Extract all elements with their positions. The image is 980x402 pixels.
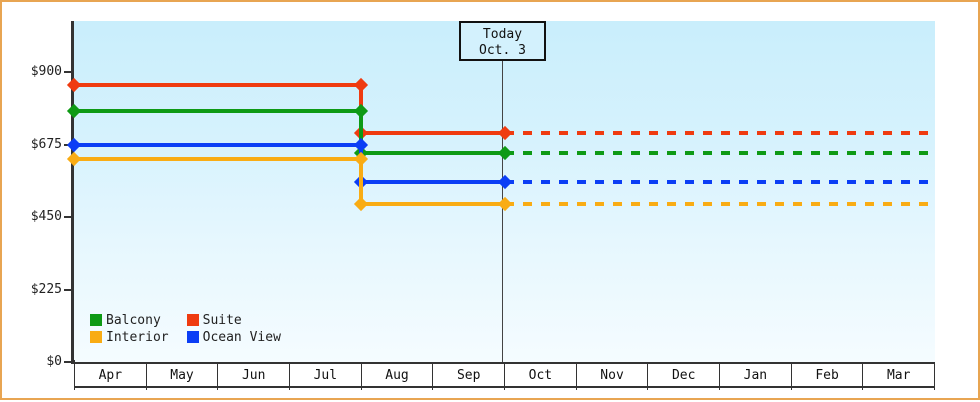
- series-forecast-line-suite: [505, 131, 936, 135]
- series-line-interior: [74, 157, 361, 161]
- series-line-ocean-view: [361, 180, 505, 184]
- series-line-suite: [74, 83, 361, 87]
- data-point-interior[interactable]: [354, 197, 368, 211]
- series-forecast-line-interior: [505, 202, 936, 206]
- series-line-interior: [361, 202, 505, 206]
- data-point-interior[interactable]: [67, 152, 81, 166]
- series-line-suite: [361, 131, 505, 135]
- series-forecast-line-ocean-view: [505, 180, 936, 184]
- chart-frame: $900$675$450$225$0 Today Oct. 3 Balcony …: [0, 0, 980, 400]
- series-line-balcony: [361, 151, 505, 155]
- series-layer: [2, 2, 980, 402]
- data-point-ocean-view[interactable]: [67, 137, 81, 151]
- series-line-balcony: [74, 109, 361, 113]
- data-point-balcony[interactable]: [67, 104, 81, 118]
- series-line-ocean-view: [74, 143, 361, 147]
- series-forecast-line-balcony: [505, 151, 936, 155]
- data-point-suite[interactable]: [67, 78, 81, 92]
